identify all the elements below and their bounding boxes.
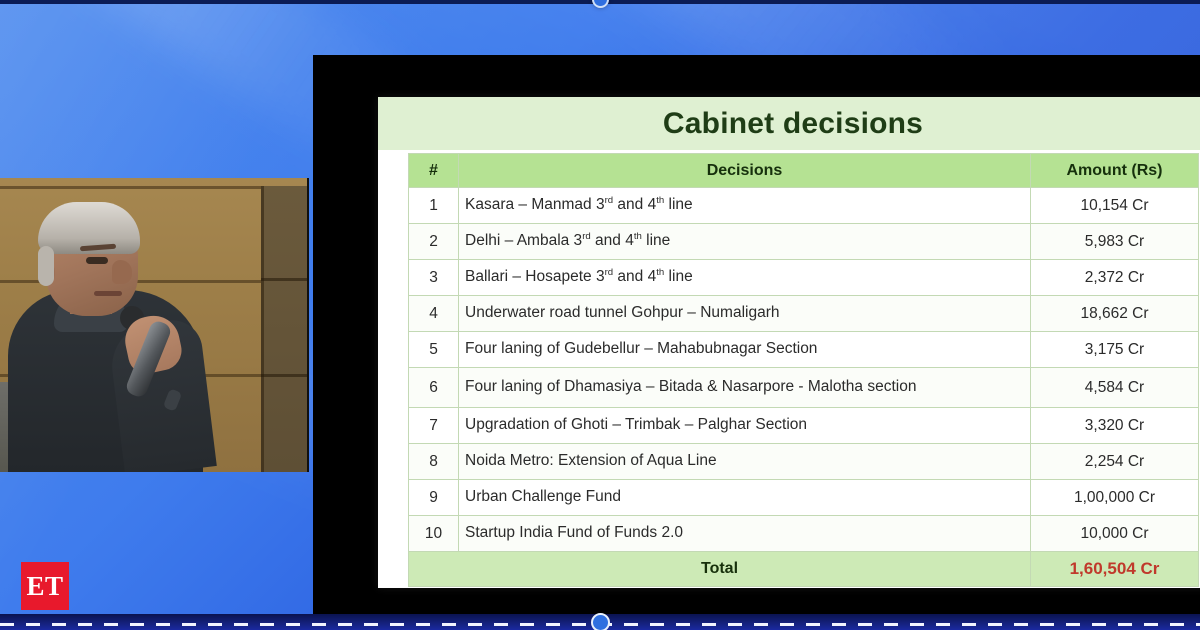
decision-text-part: Delhi – Ambala 3 [465,232,582,249]
decision-text-part: and 4 [591,232,634,249]
table-row: 3 Ballari – Hosapete 3rd and 4th line 2,… [409,260,1199,296]
table-header-row: # Decisions Amount (Rs) [409,154,1199,188]
ordinal-suffix: rd [605,267,614,278]
row-amount: 3,175 Cr [1031,332,1199,368]
slide-title: Cabinet decisions [663,107,923,141]
ordinal-suffix: rd [605,195,614,206]
row-decision: Urban Challenge Fund [459,480,1031,516]
column-header-decisions: Decisions [459,154,1031,188]
presenter-figure [8,212,218,472]
presenter-nose [112,260,132,284]
total-label: Total [409,552,1031,587]
progress-indicator-dot-icon [591,613,610,630]
row-number: 1 [409,188,459,224]
row-number: 8 [409,444,459,480]
row-amount: 18,662 Cr [1031,296,1199,332]
table-row: 2 Delhi – Ambala 3rd and 4th line 5,983 … [409,224,1199,260]
row-amount: 10,154 Cr [1031,188,1199,224]
decision-text-part: Kasara – Manmad 3 [465,196,605,213]
presenter-eye [86,257,108,264]
row-decision: Underwater road tunnel Gohpur – Numaliga… [459,296,1031,332]
camera-indicator-dot-icon [592,0,609,8]
decision-text-part: and 4 [613,196,656,213]
table-row: 1 Kasara – Manmad 3rd and 4th line 10,15… [409,188,1199,224]
row-amount: 3,320 Cr [1031,408,1199,444]
table-row: 10 Startup India Fund of Funds 2.0 10,00… [409,516,1199,552]
decision-text-part: line [664,196,692,213]
table-row: 4 Underwater road tunnel Gohpur – Numali… [409,296,1199,332]
decision-text-part: line [642,232,670,249]
column-header-number: # [409,154,459,188]
et-network-logo: ET [21,562,69,610]
row-decision: Startup India Fund of Funds 2.0 [459,516,1031,552]
projection-screen-frame: Cabinet decisions # Decisions Amount (Rs… [313,55,1200,615]
decision-text-part: line [664,268,692,285]
row-number: 2 [409,224,459,260]
row-amount: 5,983 Cr [1031,224,1199,260]
row-number: 3 [409,260,459,296]
presentation-slide: Cabinet decisions # Decisions Amount (Rs… [378,97,1200,588]
presenter-mouth [94,291,122,296]
table-row: 5 Four laning of Gudebellur – Mahabubnag… [409,332,1199,368]
table-total-row: Total 1,60,504 Cr [409,552,1199,587]
presenter-video-panel [0,178,309,472]
wall-column-seam [261,278,307,281]
row-number: 10 [409,516,459,552]
row-decision: Delhi – Ambala 3rd and 4th line [459,224,1031,260]
row-amount: 10,000 Cr [1031,516,1199,552]
row-number: 4 [409,296,459,332]
table-row: 7 Upgradation of Ghoti – Trimbak – Palgh… [409,408,1199,444]
row-amount: 2,372 Cr [1031,260,1199,296]
row-decision: Four laning of Dhamasiya – Bitada & Nasa… [459,368,1031,408]
et-logo-text: ET [26,573,63,600]
row-number: 5 [409,332,459,368]
wall-column-seam [261,374,307,377]
table-row: 9 Urban Challenge Fund 1,00,000 Cr [409,480,1199,516]
presenter-sideburn [38,246,54,286]
row-amount: 4,584 Cr [1031,368,1199,408]
broadcast-stage: ET Cabinet decisions # Decisions Amount … [0,0,1200,630]
row-number: 6 [409,368,459,408]
row-number: 9 [409,480,459,516]
ordinal-suffix: th [634,231,642,242]
table-row: 6 Four laning of Dhamasiya – Bitada & Na… [409,368,1199,408]
wall-column [261,186,307,472]
decision-text-part: Ballari – Hosapete 3 [465,268,605,285]
row-amount: 1,00,000 Cr [1031,480,1199,516]
slide-title-band: Cabinet decisions [378,97,1200,150]
row-decision: Noida Metro: Extension of Aqua Line [459,444,1031,480]
row-number: 7 [409,408,459,444]
ordinal-suffix: rd [582,231,591,242]
row-amount: 2,254 Cr [1031,444,1199,480]
total-amount: 1,60,504 Cr [1031,552,1199,587]
cabinet-decisions-table: # Decisions Amount (Rs) 1 Kasara – Manma… [408,153,1199,587]
decision-text-part: and 4 [613,268,656,285]
row-decision: Four laning of Gudebellur – Mahabubnagar… [459,332,1031,368]
column-header-amount: Amount (Rs) [1031,154,1199,188]
row-decision: Kasara – Manmad 3rd and 4th line [459,188,1031,224]
row-decision: Upgradation of Ghoti – Trimbak – Palghar… [459,408,1031,444]
table-row: 8 Noida Metro: Extension of Aqua Line 2,… [409,444,1199,480]
row-decision: Ballari – Hosapete 3rd and 4th line [459,260,1031,296]
top-bezel [0,0,1200,4]
